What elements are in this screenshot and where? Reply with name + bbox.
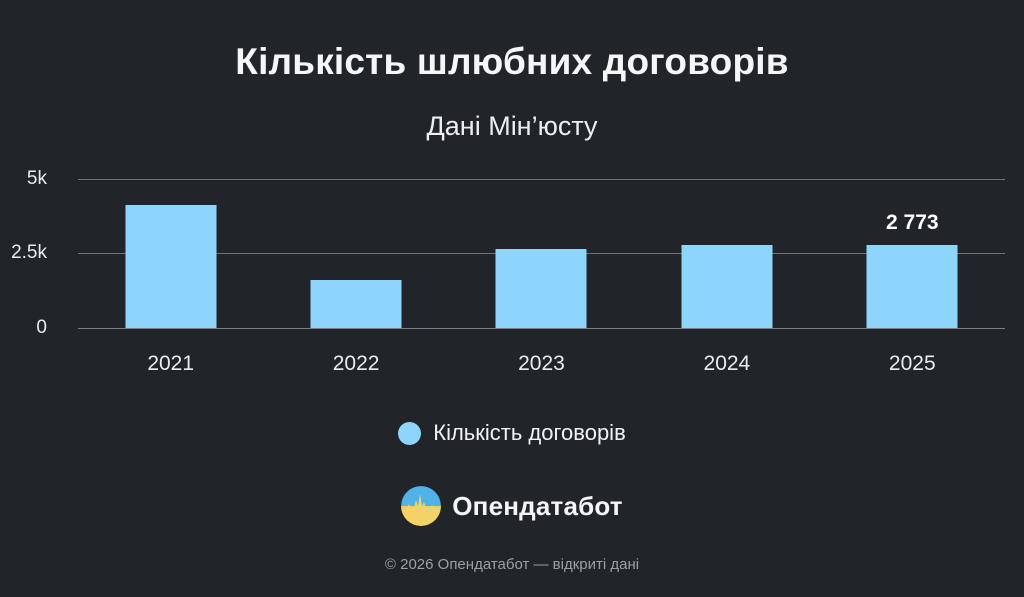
x-tick-label-2025: 2025 [820, 352, 1005, 376]
y-tick-label-2.5k: 2.5k [0, 242, 47, 264]
x-tick-label-2024: 2024 [634, 352, 819, 376]
brand-name: Опендатабот [452, 491, 622, 522]
chart-legend: Кількість договорів [0, 420, 1024, 446]
y-tick-label-5k: 5k [0, 168, 47, 190]
legend-swatch-icon [398, 422, 421, 445]
legend-item-label: Кількість договорів [433, 420, 626, 446]
opendatabot-logo-icon [401, 486, 441, 526]
chart-title: Кількість шлюбних договорів [0, 42, 1024, 83]
y-tick-label-0: 0 [0, 317, 47, 339]
footer-copyright: © 2026 Опендатабот — відкриті дані [0, 556, 1024, 573]
bar-2023[interactable] [496, 249, 587, 328]
bar-2025[interactable] [867, 245, 958, 328]
axis-baseline [78, 328, 1005, 329]
x-axis-labels: 2021 2022 2023 2024 2025 [78, 352, 1005, 382]
bar-slot-2023 [449, 179, 634, 328]
bar-slot-2025: 2 773 [820, 179, 1005, 328]
bar-value-label-2025: 2 773 [886, 211, 939, 235]
bar-2021[interactable] [125, 205, 216, 328]
chart-subtitle: Дані Мін’юсту [0, 112, 1024, 142]
bar-2024[interactable] [681, 245, 772, 328]
plot-area: 5k 2.5k 0 2 773 [78, 179, 1005, 328]
chart-container: Кількість шлюбних договорів Дані Мін’юст… [0, 0, 1024, 597]
bar-slot-2021 [78, 179, 263, 328]
bar-slot-2022 [263, 179, 448, 328]
x-tick-label-2022: 2022 [263, 352, 448, 376]
bar-2022[interactable] [311, 280, 402, 328]
brand-block: Опендатабот [0, 486, 1024, 526]
x-tick-label-2023: 2023 [449, 352, 634, 376]
bar-slot-2024 [634, 179, 819, 328]
bar-group: 2 773 [78, 179, 1005, 328]
x-tick-label-2021: 2021 [78, 352, 263, 376]
